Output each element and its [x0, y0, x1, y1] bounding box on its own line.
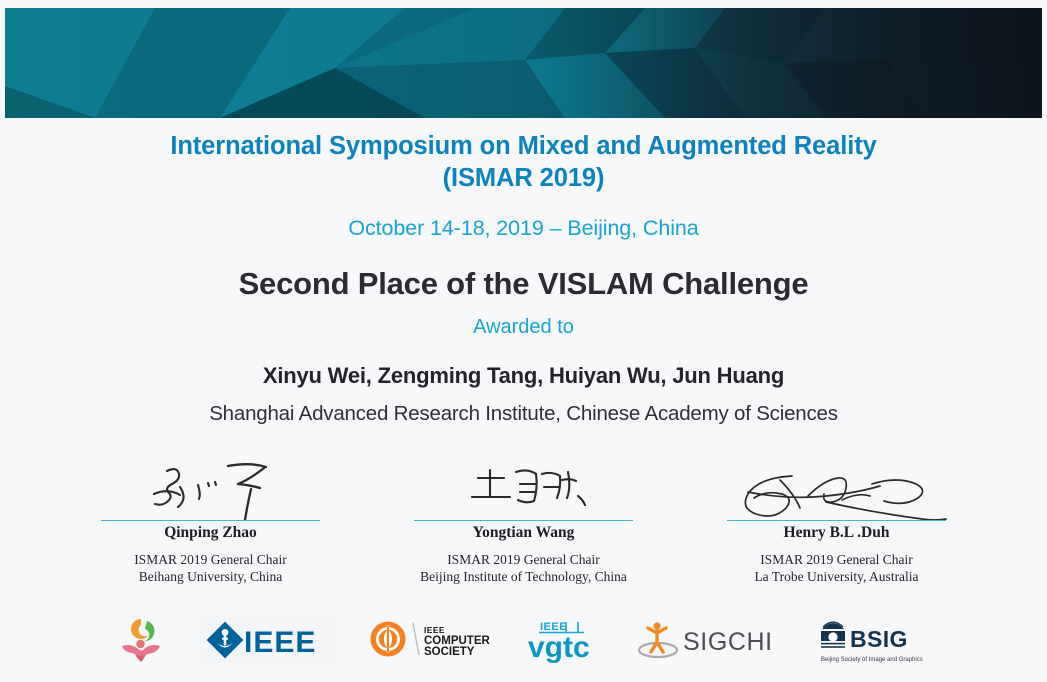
- sponsor-logo-row: IEEE IEEE COMPUTER SOCIETY IEEE: [0, 603, 1047, 675]
- handwritten-signature-2: [394, 462, 654, 520]
- signatory-role-3-line1: ISMAR 2019 General Chair: [707, 551, 967, 568]
- ieee-computer-society-logo: IEEE COMPUTER SOCIETY: [366, 615, 491, 663]
- award-title: Second Place of the VISLAM Challenge: [0, 266, 1047, 302]
- ieee-logo-text: IEEE: [244, 626, 316, 659]
- signature-rule-1: [101, 520, 320, 521]
- signature-rule-3: [727, 520, 946, 521]
- ismar-figure-logo: [113, 611, 169, 667]
- bsig-text: BSIG: [850, 626, 908, 652]
- conference-title-line1: International Symposium on Mixed and Aug…: [0, 130, 1047, 162]
- sigchi-text: SIGCHI: [683, 628, 773, 656]
- signatory-name-3: Henry B.L .Duh: [707, 524, 967, 542]
- bsig-tagline: Beijing Society of Image and Graphics: [821, 657, 923, 663]
- signatory-name-2: Yongtian Wang: [394, 524, 654, 542]
- awarded-to-label: Awarded to: [0, 316, 1047, 339]
- header-banner: [5, 8, 1042, 118]
- signatory-role-2-line1: ISMAR 2019 General Chair: [394, 551, 654, 568]
- ieee-vgtc-logo: IEEE vgtc: [522, 613, 602, 665]
- signature-block-1: Qinping Zhao ISMAR 2019 General Chair Be…: [81, 462, 341, 585]
- recipient-affiliation: Shanghai Advanced Research Institute, Ch…: [0, 402, 1047, 426]
- sigchi-logo: SIGCHI: [633, 615, 783, 663]
- handwritten-signature-3: [707, 462, 967, 520]
- bsig-logo: BSIG Beijing Society of Image and Graphi…: [814, 611, 934, 667]
- ieee-cs-line2: SOCIETY: [424, 646, 475, 658]
- signatory-role-1-line1: ISMAR 2019 General Chair: [81, 551, 341, 568]
- signatory-role-3-line2: La Trobe University, Australia: [707, 568, 967, 585]
- signature-block-2: Yongtian Wang ISMAR 2019 General Chair B…: [394, 462, 654, 585]
- signatory-role-1-line2: Beihang University, China: [81, 568, 341, 585]
- certificate-body: International Symposium on Mixed and Aug…: [0, 130, 1047, 426]
- signatory-role-2: ISMAR 2019 General Chair Beijing Institu…: [394, 551, 654, 585]
- signature-rule-2: [414, 520, 633, 521]
- ieee-logo: IEEE: [200, 615, 335, 663]
- certificate-page: International Symposium on Mixed and Aug…: [0, 0, 1047, 682]
- ieee-cs-small-text: IEEE: [424, 625, 445, 635]
- recipient-names: Xinyu Wei, Zengming Tang, Huiyan Wu, Jun…: [0, 363, 1047, 389]
- signatory-role-2-line2: Beijing Institute of Technology, China: [394, 568, 654, 585]
- header-banner-polygons: [5, 8, 1042, 118]
- vgtc-main-text: vgtc: [528, 631, 590, 664]
- signatory-role-1: ISMAR 2019 General Chair Beihang Univers…: [81, 551, 341, 585]
- signatory-role-3: ISMAR 2019 General Chair La Trobe Univer…: [707, 551, 967, 585]
- conference-title-line2: (ISMAR 2019): [0, 162, 1047, 194]
- signatory-name-1: Qinping Zhao: [81, 524, 341, 542]
- conference-date-location: October 14-18, 2019 – Beijing, China: [0, 216, 1047, 241]
- handwritten-signature-1: [81, 462, 341, 520]
- signature-block-3: Henry B.L .Duh ISMAR 2019 General Chair …: [707, 462, 967, 585]
- signature-row: Qinping Zhao ISMAR 2019 General Chair Be…: [0, 462, 1047, 585]
- conference-title: International Symposium on Mixed and Aug…: [0, 130, 1047, 195]
